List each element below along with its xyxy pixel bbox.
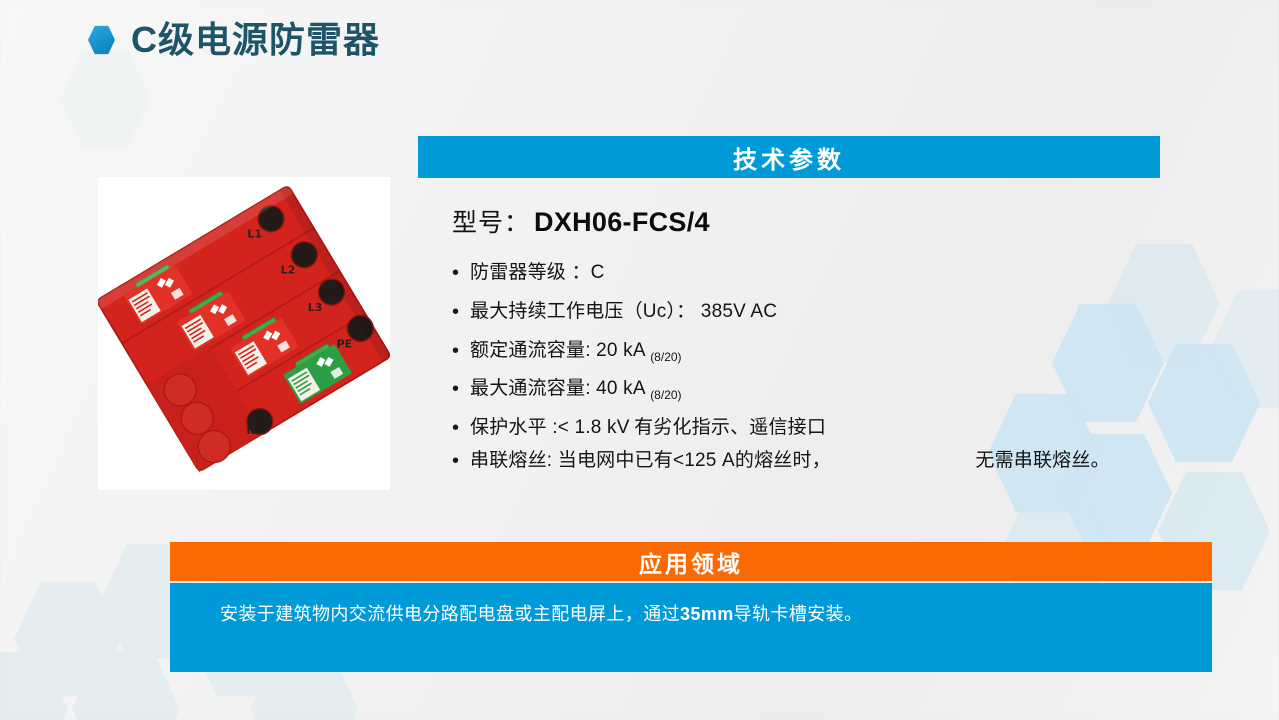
hexagon-shape-icon (1210, 286, 1279, 412)
hexagon-shape-icon (60, 48, 150, 150)
spec-line: 有劣化指示、遥信接口 (634, 417, 826, 438)
spec-line: 串联熔丝: 当电网中已有<125 A的熔丝时， (470, 450, 831, 471)
application-header: 应用领域 (170, 542, 1212, 581)
spec-item: • 最大通流容量: 40 kA (8/20) (452, 374, 1152, 410)
hexagon-shape-icon (0, 648, 68, 720)
spec-body: 保护水平 :< 1.8 kV 有劣化指示、遥信接口 (470, 413, 1152, 443)
page-title: C级电源防雷器 (131, 22, 380, 58)
hexagon-shape-icon (14, 578, 122, 700)
spec-line: 防雷器等级 ：C (470, 262, 605, 283)
page-title-row: C级电源防雷器 (88, 22, 380, 58)
svg-text:PE: PE (337, 337, 353, 350)
model-label: 型号： (452, 203, 530, 239)
spec-list: • 防雷器等级 ：C • 最大持续工作电压（Uc）： 385V AC • 额定通… (452, 258, 1152, 479)
tech-params-header: 技术参数 (418, 136, 1160, 178)
product-image: L1 L2 L3 PE N (98, 177, 390, 490)
bullet-icon: • (452, 374, 470, 404)
svg-text:L2: L2 (281, 264, 296, 277)
bullet-icon: • (452, 413, 470, 443)
spec-line: 最大持续工作电压（Uc）： 385V AC (470, 301, 777, 322)
spec-body: 串联熔丝: 当电网中已有<125 A的熔丝时， 无需串联熔丝。 (470, 446, 1152, 476)
application-text-part1: 安装于建筑物内交流供电分路配电盘或主配电屏上，通过 (220, 604, 680, 624)
spec-body: 额定通流容量: 20 kA (8/20) (470, 336, 1152, 372)
spec-line: 保护水平 :< 1.8 kV (470, 417, 630, 438)
spec-text: 最大持续工作电压（Uc）： 385V AC (470, 301, 777, 322)
model-line: 型号： DXH06-FCS/4 (452, 203, 710, 239)
svg-text:N: N (246, 424, 255, 437)
spec-text: 最大通流容量: 40 kA (470, 378, 650, 399)
application-body: 安装于建筑物内交流供电分路配电盘或主配电屏上，通过35mm导轨卡槽安装。 (170, 583, 1212, 672)
spec-line: 最大通流容量: 40 kA (8/20) (470, 378, 682, 399)
spec-body: 最大持续工作电压（Uc）： 385V AC (470, 297, 1152, 333)
hexagon-shape-icon (1148, 340, 1260, 466)
spec-item: • 防雷器等级 ：C (452, 258, 1152, 294)
spec-line: 额定通流容量: 20 kA (8/20) (470, 340, 682, 361)
bullet-icon: • (452, 258, 470, 288)
spec-body: 最大通流容量: 40 kA (8/20) (470, 374, 1152, 410)
bullet-icon: • (452, 297, 470, 327)
bullet-icon: • (452, 336, 470, 366)
slide-canvas: C级电源防雷器 (0, 0, 1279, 720)
application-text-bold: 35mm (680, 604, 734, 624)
spec-item: • 串联熔丝: 当电网中已有<125 A的熔丝时， 无需串联熔丝。 (452, 446, 1152, 476)
spec-subscript: (8/20) (650, 388, 681, 402)
spec-line: 无需串联熔丝。 (835, 450, 1109, 471)
spec-text: 防雷器等级 ：C (470, 262, 605, 283)
bullet-icon: • (452, 446, 470, 476)
svg-text:L3: L3 (308, 301, 323, 314)
spec-item: • 保护水平 :< 1.8 kV 有劣化指示、遥信接口 (452, 413, 1152, 443)
hexagon-bullet-icon (88, 25, 115, 55)
application-body-text: 安装于建筑物内交流供电分路配电盘或主配电屏上，通过35mm导轨卡槽安装。 (220, 600, 862, 626)
svg-text:L1: L1 (247, 228, 262, 241)
spec-text: 额定通流容量: 20 kA (470, 340, 650, 361)
model-value: DXH06-FCS/4 (534, 207, 710, 238)
surge-protector-illustration: L1 L2 L3 PE N (98, 177, 390, 490)
spec-item: • 额定通流容量: 20 kA (8/20) (452, 336, 1152, 372)
tech-params-header-label: 技术参数 (733, 140, 845, 175)
hexagon-shape-icon (72, 648, 180, 720)
spec-subscript: (8/20) (650, 349, 681, 363)
application-text-part2: 导轨卡槽安装。 (734, 604, 863, 624)
application-header-label: 应用领域 (639, 545, 743, 579)
spec-body: 防雷器等级 ：C (470, 258, 1152, 294)
spec-item: • 最大持续工作电压（Uc）： 385V AC (452, 297, 1152, 333)
